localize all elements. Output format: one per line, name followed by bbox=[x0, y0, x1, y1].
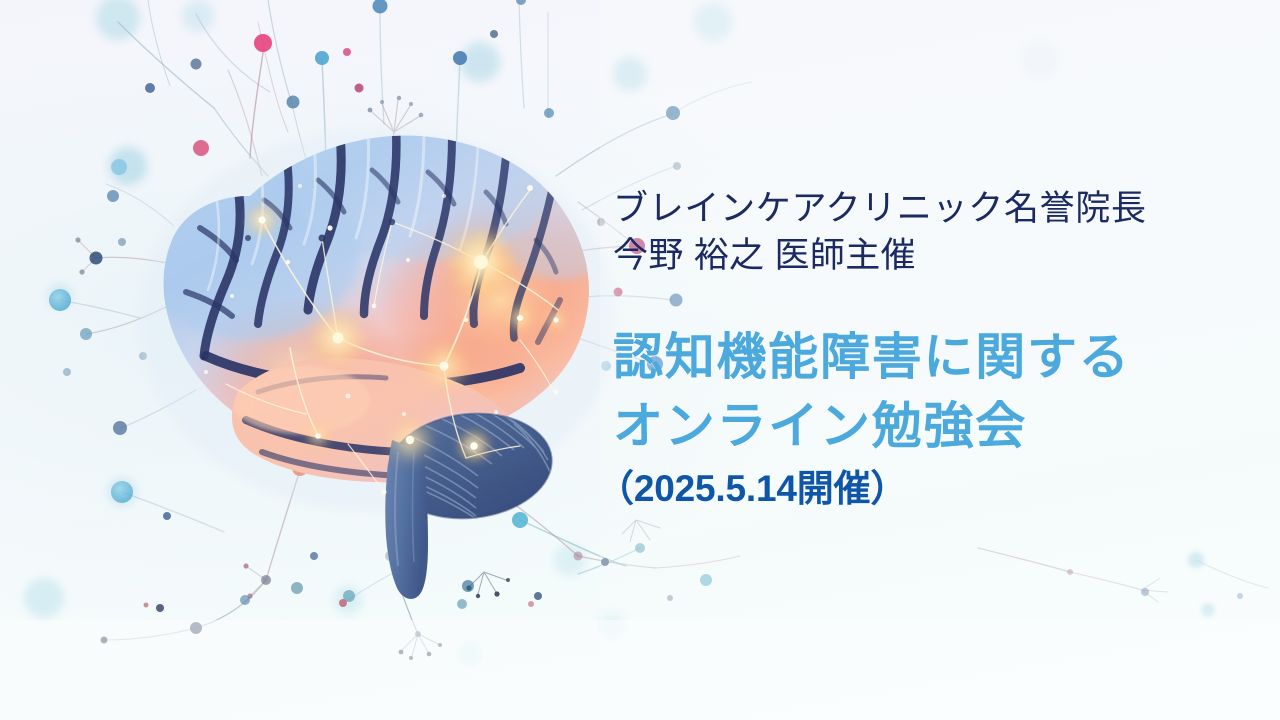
seminar-title-line-2: オンライン勉強会 bbox=[613, 392, 1253, 461]
synapse-glow-points bbox=[204, 184, 567, 495]
presenter-heading: ブレインケアクリニック名誉院長 今野 裕之 医師主催 bbox=[613, 186, 1253, 279]
slide-text-block: ブレインケアクリニック名誉院長 今野 裕之 医師主催 認知機能障害に関する オン… bbox=[613, 186, 1253, 510]
seminar-title-slide: ブレインケアクリニック名誉院長 今野 裕之 医師主催 認知機能障害に関する オン… bbox=[0, 0, 1280, 720]
seminar-title: 認知機能障害に関する オンライン勉強会 bbox=[613, 323, 1253, 461]
glow-threads bbox=[226, 190, 558, 492]
seminar-title-line-1: 認知機能障害に関する bbox=[613, 323, 1253, 392]
presenter-line-1: ブレインケアクリニック名誉院長 bbox=[613, 186, 1253, 233]
brain-illustration bbox=[140, 120, 630, 599]
event-date-note: （2025.5.14開催） bbox=[597, 469, 1253, 510]
surface-terminals bbox=[245, 219, 395, 242]
presenter-line-2: 今野 裕之 医師主催 bbox=[613, 233, 1253, 280]
